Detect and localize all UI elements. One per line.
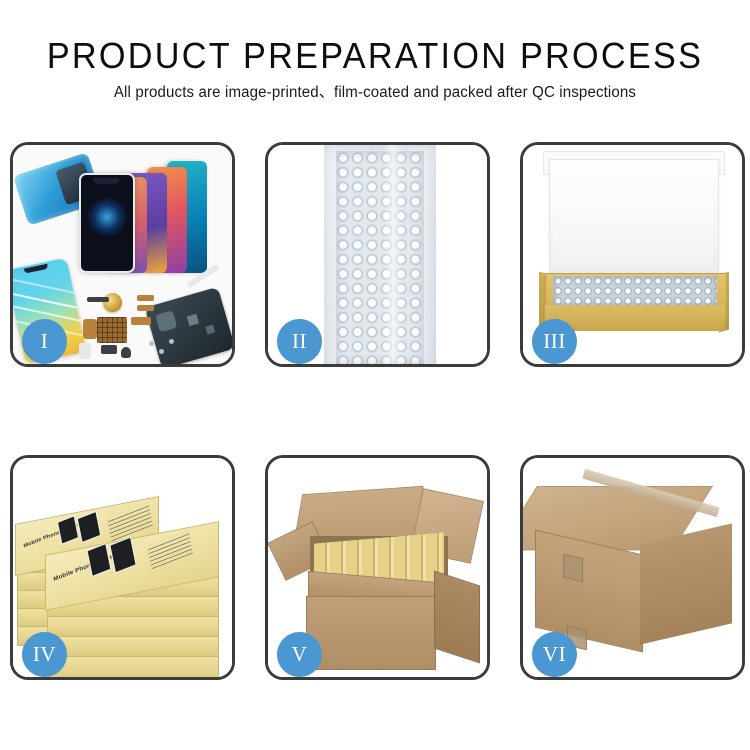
- step-card-6: VI: [520, 455, 745, 680]
- step-card-5: V: [265, 455, 490, 680]
- badge-step-2: II: [277, 319, 322, 364]
- chip-grid-part: [97, 317, 127, 343]
- step-card-4: Mobile Phone Spare Parts Mobile Phone Sp…: [10, 455, 235, 680]
- small-part-1: [87, 297, 109, 302]
- bubble-wrap-sheet: [324, 145, 436, 364]
- tape-tab-upper: [563, 554, 583, 583]
- step-card-1: I: [10, 142, 235, 367]
- small-part-7: [121, 347, 131, 358]
- phone-display-fan: [79, 151, 229, 273]
- front-glass-screen: [79, 173, 135, 273]
- badge-step-4: IV: [22, 632, 67, 677]
- screw-1: [149, 341, 154, 346]
- stacked-box-fr-5: [47, 656, 219, 677]
- phone-back-housing: [145, 287, 232, 364]
- small-part-3: [137, 305, 154, 311]
- badge-step-6: VI: [532, 632, 577, 677]
- badge-step-5: V: [277, 632, 322, 677]
- bubble-wrap-sheen: [382, 145, 404, 364]
- carton-side-face: [434, 571, 480, 664]
- bubble-wrap-bubbles: [336, 151, 424, 364]
- sealed-carton-side: [640, 523, 732, 644]
- mailer-bubble-contents: [553, 276, 717, 306]
- stacked-box-fr-3: [47, 616, 219, 638]
- badge-step-3: III: [532, 319, 577, 364]
- screw-2: [159, 349, 164, 354]
- small-part-5: [131, 317, 151, 325]
- gold-coil-part: [103, 293, 122, 312]
- small-part-8: [79, 343, 91, 359]
- steps-grid: I II III: [10, 142, 740, 682]
- small-part-6: [101, 345, 117, 354]
- small-part-4: [83, 319, 97, 339]
- page-title: PRODUCT PREPARATION PROCESS: [19, 36, 732, 76]
- stacked-box-fr-4: [47, 636, 219, 658]
- carton-front-face: [306, 596, 436, 670]
- small-part-2: [137, 295, 154, 301]
- step-card-2: II: [265, 142, 490, 367]
- step-card-3: III: [520, 142, 745, 367]
- mailer-inner-foam: [553, 197, 713, 269]
- page-subtitle: All products are image-printed、film-coat…: [11, 83, 739, 103]
- screw-3: [169, 339, 174, 344]
- badge-step-1: I: [22, 319, 67, 364]
